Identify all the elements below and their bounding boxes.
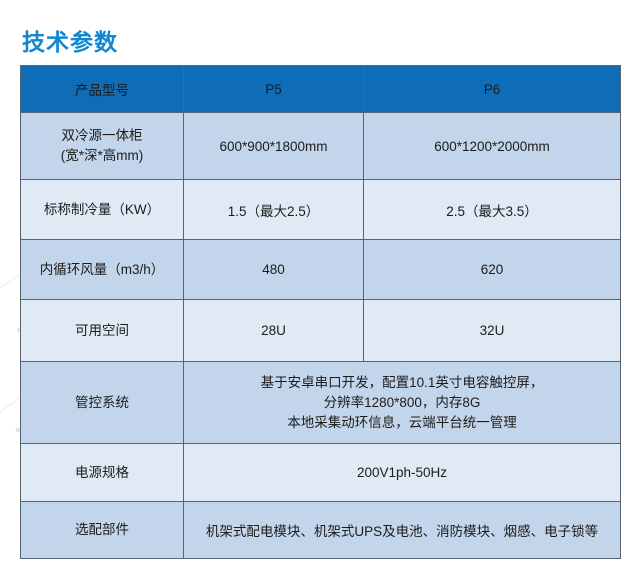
- row-label-cooling-capacity: 标称制冷量（KW）: [21, 180, 184, 240]
- row-label-power-spec: 电源规格: [21, 444, 184, 502]
- row-label-airflow: 内循环风量（m3/h）: [21, 240, 184, 300]
- table-row: 选配部件 机架式配电模块、机架式UPS及电池、消防模块、烟感、电子锁等: [21, 502, 621, 559]
- column-header-model: 产品型号: [21, 66, 184, 113]
- cell-cooling-capacity-p6: 2.5（最大3.5）: [364, 180, 621, 240]
- table-row: 内循环风量（m3/h） 480 620: [21, 240, 621, 300]
- cell-usable-space-p6: 32U: [364, 300, 621, 362]
- column-header-p6: P6: [364, 66, 621, 113]
- cell-power-spec-value: 200V1ph-50Hz: [184, 444, 621, 502]
- table-row: 管控系统 基于安卓串口开发，配置10.1英寸电容触控屏， 分辨率1280*800…: [21, 362, 621, 444]
- cell-airflow-p5: 480: [184, 240, 364, 300]
- cell-optional-parts-value: 机架式配电模块、机架式UPS及电池、消防模块、烟感、电子锁等: [184, 502, 621, 559]
- table-row: 电源规格 200V1ph-50Hz: [21, 444, 621, 502]
- table-header: 产品型号 P5 P6: [21, 66, 621, 113]
- table-body: 双冷源一体柜 (宽*深*高mm) 600*900*1800mm 600*1200…: [21, 113, 621, 559]
- cell-dimensions-p5: 600*900*1800mm: [184, 113, 364, 180]
- cell-dimensions-p6: 600*1200*2000mm: [364, 113, 621, 180]
- cell-airflow-p6: 620: [364, 240, 621, 300]
- page-title: 技术参数: [22, 27, 118, 57]
- column-header-p5: P5: [184, 66, 364, 113]
- control-system-line2: 分辨率1280*800，内存8G: [190, 393, 614, 413]
- header-row: 产品型号 P5 P6: [21, 66, 621, 113]
- table-row: 可用空间 28U 32U: [21, 300, 621, 362]
- row-label-usable-space: 可用空间: [21, 300, 184, 362]
- cell-control-system-value: 基于安卓串口开发，配置10.1英寸电容触控屏， 分辨率1280*800，内存8G…: [184, 362, 621, 444]
- control-system-line3: 本地采集动环信息，云端平台统一管理: [190, 413, 614, 433]
- table-row: 双冷源一体柜 (宽*深*高mm) 600*900*1800mm 600*1200…: [21, 113, 621, 180]
- control-system-line1: 基于安卓串口开发，配置10.1英寸电容触控屏，: [190, 373, 614, 393]
- row-label-control-system: 管控系统: [21, 362, 184, 444]
- row-label-line1: 双冷源一体柜: [62, 128, 143, 143]
- technical-spec-table: 产品型号 P5 P6 双冷源一体柜 (宽*深*高mm) 600*900*1800…: [20, 65, 621, 559]
- table-row: 标称制冷量（KW） 1.5（最大2.5） 2.5（最大3.5）: [21, 180, 621, 240]
- row-label-optional-parts: 选配部件: [21, 502, 184, 559]
- row-label-dimensions: 双冷源一体柜 (宽*深*高mm): [21, 113, 184, 180]
- spec-page: 技术参数 产品型号 P5 P6 双冷源一体柜 (宽*深*高mm) 600*900…: [0, 0, 640, 567]
- row-label-line2: (宽*深*高mm): [61, 148, 144, 163]
- cell-usable-space-p5: 28U: [184, 300, 364, 362]
- cell-cooling-capacity-p5: 1.5（最大2.5）: [184, 180, 364, 240]
